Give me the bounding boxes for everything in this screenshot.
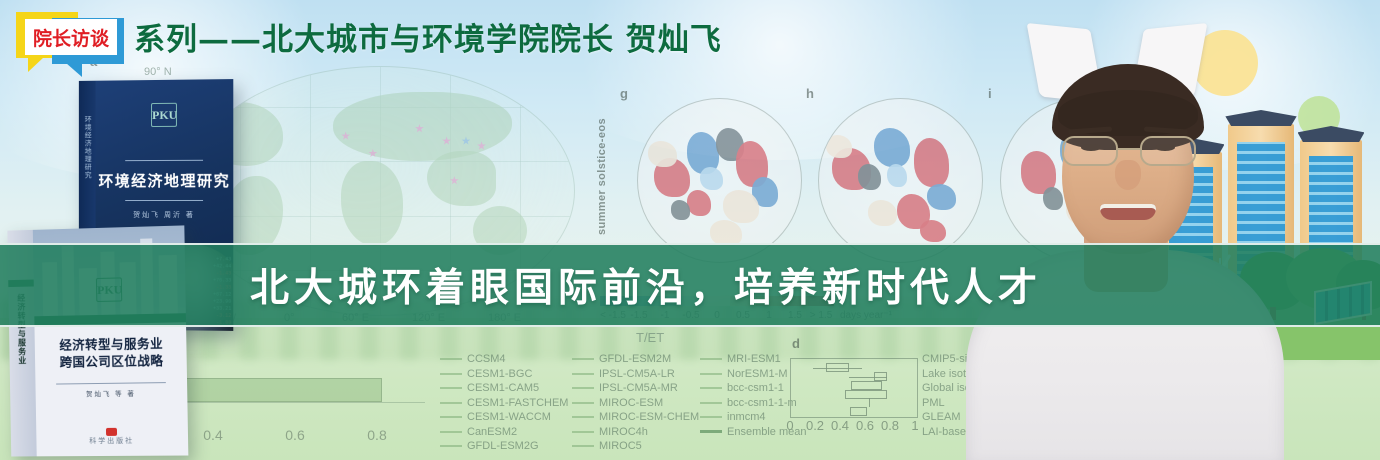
legend-swatch [572, 358, 594, 360]
legend-label: MIROC-ESM-CHEM [599, 410, 699, 425]
box-x-tick: 0.2 [806, 418, 824, 433]
legend-swatch [572, 402, 594, 404]
book-title: 环境经济地理研究 [96, 170, 234, 191]
book-title-line-1: 经济转型与服务业 [59, 337, 163, 353]
publisher-logo-icon [106, 428, 117, 436]
box-x-tick: 0.8 [881, 418, 899, 433]
model-legend-col-2: GFDL-ESM2M IPSL-CM5A-LR IPSL-CM5A-MR MIR… [572, 352, 699, 454]
legend-swatch [572, 373, 594, 375]
legend-swatch [440, 431, 462, 433]
headline-text: 北大城环着眼国际前沿，培养新时代人才 [250, 246, 1042, 324]
legend-swatch [440, 445, 462, 447]
program-logo-badge: 院长访谈 [16, 8, 128, 70]
portrait-mouth [1100, 204, 1156, 220]
legend-swatch [440, 387, 462, 389]
book-spine-title: 环境经济地理研究 [82, 116, 92, 180]
legend-label: inmcm4 [727, 410, 766, 425]
legend-swatch [700, 387, 722, 389]
box-row [850, 407, 867, 416]
legend-swatch [700, 416, 722, 418]
legend-swatch [440, 358, 462, 360]
model-legend-col-3: MRI-ESM1 NorESM1-M bcc-csm1-1 bcc-csm1-1… [700, 352, 807, 439]
box-row [869, 398, 870, 407]
box-row [851, 381, 882, 390]
box-plot-panel: 0 0.2 0.4 0.6 0.8 1 [790, 348, 918, 436]
panel-letter-g: g [620, 86, 628, 101]
legend-label: GFDL-ESM2M [599, 352, 671, 367]
legend-label: MIROC-ESM [599, 396, 663, 411]
box-x-tick: 0.6 [856, 418, 874, 433]
legend-label: MIROC4h [599, 425, 648, 440]
legend-swatch [700, 402, 722, 404]
legend-swatch [700, 373, 722, 375]
bar-x-tick: 0.6 [285, 427, 304, 443]
book-author: 贺灿飞 等 著 [36, 386, 188, 398]
legend-label: GFDL-ESM2G [467, 439, 539, 454]
legend-swatch [572, 445, 594, 447]
legend-label: MRI-ESM1 [727, 352, 781, 367]
legend-swatch [572, 416, 594, 418]
book-publisher: 科学出版社 [36, 435, 188, 446]
interview-banner: a 90° N 30° N 0° 120° W 60° W 0° 60° E 1… [0, 0, 1380, 460]
polar-map-g [637, 98, 802, 263]
box-series-label: PML [922, 396, 945, 411]
page-title: 系列——北大城市与环境学院院长 贺灿飞 [134, 14, 722, 59]
legend-swatch [700, 430, 722, 433]
box-series-label: GLEAM [922, 410, 961, 425]
legend-label: MIROC5 [599, 439, 642, 454]
legend-label: CCSM4 [467, 352, 506, 367]
legend-swatch [572, 387, 594, 389]
polar-map-h [818, 98, 983, 263]
legend-swatch [572, 431, 594, 433]
badge-label: 院长访谈 [25, 19, 117, 55]
legend-label: Ensemble mean [727, 425, 807, 440]
bar-x-tick: 0.4 [203, 427, 222, 443]
pku-logo-icon: PKU [151, 102, 177, 126]
legend-label: NorESM1-M [727, 367, 788, 382]
legend-label: bcc-csm1-1 [727, 381, 784, 396]
legend-swatch [440, 402, 462, 404]
book-author: 贺灿飞 周沂 著 [96, 210, 234, 220]
box-x-tick: 0.4 [831, 418, 849, 433]
legend-label: CESM1-FASTCHEM [467, 396, 568, 411]
legend-label: CESM1-WACCM [467, 410, 551, 425]
polar-y-axis-label: summer solstice-eos [596, 118, 608, 235]
bar-x-tick: 0.8 [367, 427, 386, 443]
legend-swatch [440, 373, 462, 375]
legend-label: CESM1-CAM5 [467, 381, 539, 396]
box-row [845, 390, 887, 399]
legend-swatch [700, 358, 722, 360]
book-title: 经济转型与服务业 跨国公司区位战略 [43, 336, 181, 372]
avatar [960, 18, 1290, 460]
legend-label: CanESM2 [467, 425, 517, 440]
legend-label: IPSL-CM5A-MR [599, 381, 678, 396]
legend-label: bcc-csm1-1-m [727, 396, 797, 411]
model-legend-col-1: CCSM4 CESM1-BGC CESM1-CAM5 CESM1-FASTCHE… [440, 352, 568, 454]
legend-swatch [440, 416, 462, 418]
lat-label-90n: 90° N [144, 66, 172, 78]
box-x-tick: 1 [911, 418, 918, 433]
legend-label: CESM1-BGC [467, 367, 532, 382]
portrait-nose [1115, 160, 1141, 190]
panel-letter-h: h [806, 86, 814, 101]
book-title-line-2: 跨国公司区位战略 [60, 354, 164, 370]
legend-label: IPSL-CM5A-LR [599, 367, 675, 382]
bar-chart-axis-label: T/ET [636, 330, 664, 345]
